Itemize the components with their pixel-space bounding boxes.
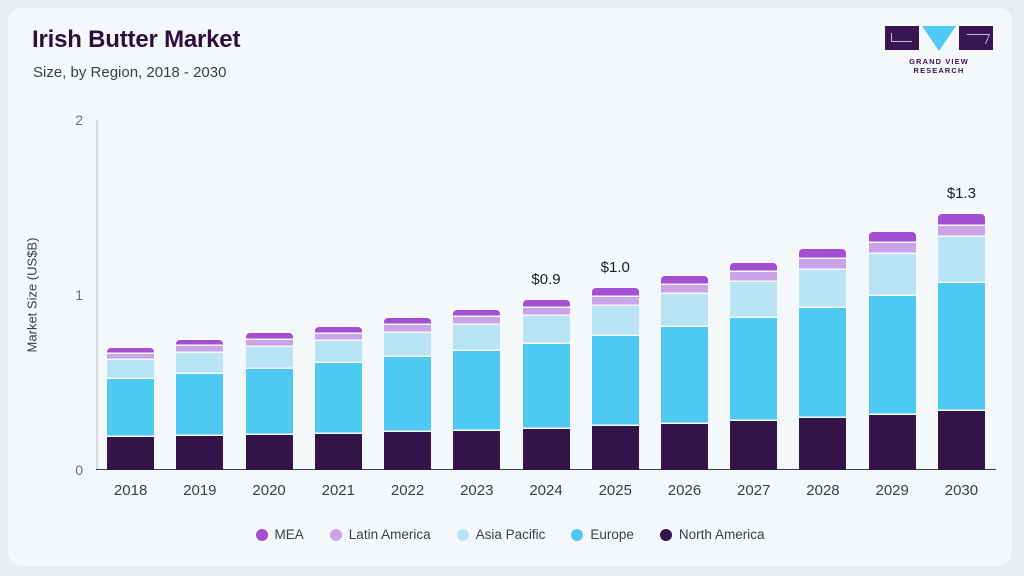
bar-segment-asia-pacific[interactable] [523, 316, 570, 344]
bar-segment-mea[interactable] [523, 300, 570, 308]
x-axis-tick-label: 2027 [737, 482, 770, 499]
bar-segment-north-america[interactable] [938, 411, 985, 470]
bar-segment-mea[interactable] [592, 288, 639, 297]
bar-segment-north-america[interactable] [315, 434, 362, 470]
x-axis-tick-label: 2020 [252, 482, 285, 499]
stacked-bar[interactable] [799, 249, 846, 470]
bar-segment-europe[interactable] [246, 369, 293, 436]
bar-segment-mea[interactable] [246, 333, 293, 340]
logo-triangle-icon [922, 26, 956, 51]
stacked-bar[interactable] [246, 333, 293, 470]
chart-legend: MEALatin AmericaAsia PacificEuropeNorth … [8, 527, 1012, 542]
bar-segment-europe[interactable] [592, 336, 639, 426]
page-subtitle: Size, by Region, 2018 - 2030 [33, 64, 226, 81]
stacked-bar[interactable] [107, 348, 154, 471]
bar-segment-asia-pacific[interactable] [661, 294, 708, 327]
logo-right-rect-icon [959, 26, 993, 50]
stacked-bar[interactable] [730, 263, 777, 470]
plot-area: Market Size (US$B) 012 20182019202020212… [96, 120, 996, 470]
stacked-bar[interactable] [453, 310, 500, 470]
bar-segment-latin-america[interactable] [730, 272, 777, 282]
x-axis-tick-label: 2021 [322, 482, 355, 499]
bar-segment-mea[interactable] [453, 310, 500, 318]
bar-segment-europe[interactable] [384, 357, 431, 432]
bar-segment-mea[interactable] [384, 318, 431, 325]
x-axis-tick-label: 2023 [460, 482, 493, 499]
bar-segment-north-america[interactable] [799, 418, 846, 470]
bar-segment-latin-america[interactable] [869, 243, 916, 254]
y-axis-label: Market Size (US$B) [25, 238, 40, 353]
bar-segment-latin-america[interactable] [938, 226, 985, 238]
bar-segment-north-america[interactable] [453, 431, 500, 470]
bar-value-label: $1.3 [947, 185, 976, 202]
bar-segment-latin-america[interactable] [453, 317, 500, 325]
bar-segment-asia-pacific[interactable] [730, 282, 777, 318]
bar-segment-asia-pacific[interactable] [869, 254, 916, 296]
bar-column[interactable]: 2019 [165, 120, 234, 470]
bar-segment-asia-pacific[interactable] [592, 306, 639, 337]
bar-column[interactable]: 2021 [304, 120, 373, 470]
bar-segment-europe[interactable] [869, 296, 916, 415]
legend-swatch-icon [330, 529, 342, 541]
bar-column[interactable]: 2018 [96, 120, 165, 470]
stacked-bar[interactable] [938, 214, 985, 470]
bar-segment-north-america[interactable] [592, 426, 639, 470]
stacked-bar[interactable] [592, 288, 639, 470]
bar-segment-north-america[interactable] [869, 415, 916, 470]
legend-swatch-icon [256, 529, 268, 541]
bar-column[interactable]: 2023 [442, 120, 511, 470]
legend-label: North America [679, 527, 765, 542]
y-axis-tick-label: 2 [75, 112, 83, 128]
x-axis-tick-label: 2025 [599, 482, 632, 499]
bar-segment-north-america[interactable] [523, 429, 570, 470]
stacked-bar[interactable] [661, 276, 708, 470]
legend-item[interactable]: Latin America [330, 527, 431, 542]
bar-segment-europe[interactable] [730, 318, 777, 421]
bar-segment-mea[interactable] [799, 249, 846, 259]
bar-segment-latin-america[interactable] [799, 259, 846, 269]
bar-segment-asia-pacific[interactable] [938, 237, 985, 283]
bar-segment-europe[interactable] [523, 344, 570, 429]
y-axis-tick-label: 1 [75, 287, 83, 303]
bar-segment-latin-america[interactable] [661, 285, 708, 294]
page-title: Irish Butter Market [32, 26, 240, 54]
bar-column[interactable]: 2028 [788, 120, 857, 470]
legend-item[interactable]: MEA [256, 527, 304, 542]
legend-label: MEA [275, 527, 304, 542]
bar-column[interactable]: $0.92024 [511, 120, 580, 470]
x-axis-tick-label: 2030 [945, 482, 978, 499]
x-axis-tick-label: 2022 [391, 482, 424, 499]
x-axis-tick-label: 2018 [114, 482, 147, 499]
legend-swatch-icon [457, 529, 469, 541]
bar-segment-mea[interactable] [661, 276, 708, 285]
bar-segment-mea[interactable] [869, 232, 916, 243]
bar-segment-north-america[interactable] [661, 424, 708, 470]
y-axis-tick-label: 0 [75, 462, 83, 478]
bar-segment-mea[interactable] [315, 327, 362, 334]
stacked-bar[interactable] [523, 300, 570, 470]
logo-left-rect-icon [885, 26, 919, 50]
bar-segment-latin-america[interactable] [246, 340, 293, 347]
bar-segment-asia-pacific[interactable] [799, 270, 846, 309]
page-background: Irish Butter Market Size, by Region, 201… [0, 0, 1024, 576]
bar-segment-north-america[interactable] [107, 437, 154, 470]
x-axis-tick-label: 2026 [668, 482, 701, 499]
bar-segment-mea[interactable] [938, 214, 985, 226]
bar-column[interactable]: 2029 [858, 120, 927, 470]
bar-segment-asia-pacific[interactable] [384, 333, 431, 358]
bar-group: 201820192020202120222023$0.92024$1.02025… [96, 120, 996, 470]
stacked-bar[interactable] [315, 327, 362, 470]
x-axis-tick-label: 2019 [183, 482, 216, 499]
stacked-bar[interactable] [384, 318, 431, 470]
legend-item[interactable]: Asia Pacific [457, 527, 546, 542]
bar-segment-north-america[interactable] [730, 421, 777, 470]
stacked-bar[interactable] [869, 232, 916, 470]
bar-segment-asia-pacific[interactable] [453, 325, 500, 351]
x-axis-tick-label: 2028 [806, 482, 839, 499]
legend-swatch-icon [660, 529, 672, 541]
grand-view-research-logo: GRAND VIEW RESEARCH [884, 26, 994, 75]
legend-label: Latin America [349, 527, 431, 542]
legend-swatch-icon [571, 529, 583, 541]
bar-segment-europe[interactable] [107, 379, 154, 437]
bar-value-label: $0.9 [531, 271, 560, 288]
bar-column[interactable]: 2020 [234, 120, 303, 470]
bar-segment-north-america[interactable] [176, 436, 223, 470]
legend-item[interactable]: North America [660, 527, 765, 542]
x-axis-tick-label: 2024 [529, 482, 562, 499]
bar-segment-europe[interactable] [661, 327, 708, 423]
legend-item[interactable]: Europe [571, 527, 634, 542]
bar-column[interactable]: 2027 [719, 120, 788, 470]
bar-segment-asia-pacific[interactable] [246, 347, 293, 369]
stacked-bar[interactable] [176, 340, 223, 470]
bar-segment-asia-pacific[interactable] [315, 341, 362, 364]
bar-segment-north-america[interactable] [246, 435, 293, 470]
chart-card: Irish Butter Market Size, by Region, 201… [8, 8, 1012, 566]
logo-marks [884, 26, 994, 52]
bar-column[interactable]: $1.32030 [927, 120, 996, 470]
bar-column[interactable]: $1.02025 [581, 120, 650, 470]
bar-segment-europe[interactable] [176, 374, 223, 436]
legend-label: Europe [590, 527, 634, 542]
x-axis-tick-label: 2029 [876, 482, 909, 499]
bar-segment-mea[interactable] [730, 263, 777, 273]
bar-segment-asia-pacific[interactable] [107, 360, 154, 379]
bar-segment-europe[interactable] [315, 363, 362, 434]
bar-value-label: $1.0 [601, 259, 630, 276]
bar-segment-europe[interactable] [799, 308, 846, 418]
bar-segment-latin-america[interactable] [523, 308, 570, 316]
bar-segment-latin-america[interactable] [315, 334, 362, 341]
bar-segment-north-america[interactable] [384, 432, 431, 470]
bar-segment-europe[interactable] [938, 283, 985, 412]
bar-column[interactable]: 2026 [650, 120, 719, 470]
bar-segment-europe[interactable] [453, 351, 500, 431]
bar-column[interactable]: 2022 [373, 120, 442, 470]
bar-segment-latin-america[interactable] [592, 297, 639, 306]
legend-label: Asia Pacific [476, 527, 546, 542]
logo-text: GRAND VIEW RESEARCH [884, 57, 994, 75]
bar-segment-latin-america[interactable] [384, 325, 431, 332]
bar-segment-asia-pacific[interactable] [176, 353, 223, 374]
